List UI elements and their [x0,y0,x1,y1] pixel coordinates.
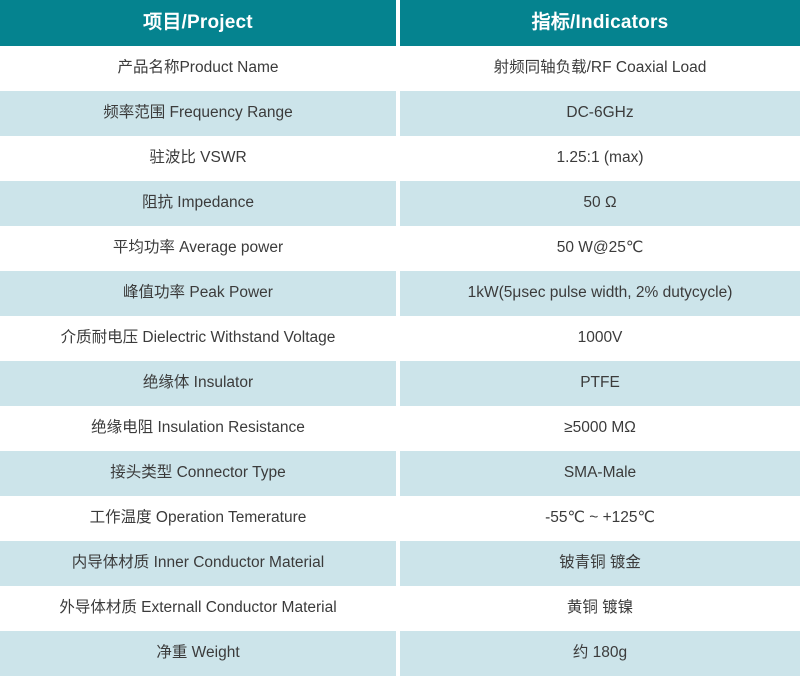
table-cell-indicator: ≥5000 MΩ [400,406,800,451]
table-cell-project: 绝缘电阻 Insulation Resistance [0,406,396,451]
table-row: 内导体材质 Inner Conductor Material铍青铜 镀金 [0,541,800,586]
table-cell-project: 绝缘体 Insulator [0,361,396,406]
table-cell-project: 频率范围 Frequency Range [0,91,396,136]
table-row: 介质耐电压 Dielectric Withstand Voltage1000V [0,316,800,361]
table-row: 峰值功率 Peak Power1kW(5μsec pulse width, 2%… [0,271,800,316]
table-cell-indicator: 黄铜 镀镍 [400,586,800,631]
table-cell-project: 峰值功率 Peak Power [0,271,396,316]
table-cell-project: 接头类型 Connector Type [0,451,396,496]
table-row: 外导体材质 Externall Conductor Material黄铜 镀镍 [0,586,800,631]
table-cell-project: 阻抗 Impedance [0,181,396,226]
table-cell-indicator: 1000V [400,316,800,361]
table-cell-indicator: SMA-Male [400,451,800,496]
table-body: 产品名称Product Name射频同轴负载/RF Coaxial Load频率… [0,46,800,676]
table-row: 接头类型 Connector TypeSMA-Male [0,451,800,496]
table-row: 绝缘电阻 Insulation Resistance≥5000 MΩ [0,406,800,451]
table-cell-project: 介质耐电压 Dielectric Withstand Voltage [0,316,396,361]
table-header-indicator: 指标/Indicators [400,0,800,46]
table-cell-indicator: DC-6GHz [400,91,800,136]
table-row: 净重 Weight约 180g [0,631,800,676]
table-cell-indicator: -55℃ ~ +125℃ [400,496,800,541]
table-row: 阻抗 Impedance50 Ω [0,181,800,226]
table-row: 驻波比 VSWR1.25:1 (max) [0,136,800,181]
table-cell-project: 平均功率 Average power [0,226,396,271]
specification-table: 项目/Project 指标/Indicators 产品名称Product Nam… [0,0,800,678]
table-cell-indicator: 铍青铜 镀金 [400,541,800,586]
table-cell-project: 内导体材质 Inner Conductor Material [0,541,396,586]
table-row: 工作温度 Operation Temerature-55℃ ~ +125℃ [0,496,800,541]
table-cell-indicator: 射频同轴负载/RF Coaxial Load [400,46,800,91]
table-cell-project: 驻波比 VSWR [0,136,396,181]
table-header-row: 项目/Project 指标/Indicators [0,0,800,46]
table-row: 绝缘体 InsulatorPTFE [0,361,800,406]
table-row: 平均功率 Average power50 W@25℃ [0,226,800,271]
table-cell-indicator: 约 180g [400,631,800,676]
table-cell-indicator: PTFE [400,361,800,406]
table-cell-indicator: 1.25:1 (max) [400,136,800,181]
table-header-project: 项目/Project [0,0,396,46]
table-row: 频率范围 Frequency RangeDC-6GHz [0,91,800,136]
table-cell-project: 产品名称Product Name [0,46,396,91]
table-cell-project: 工作温度 Operation Temerature [0,496,396,541]
table-cell-project: 外导体材质 Externall Conductor Material [0,586,396,631]
table-cell-indicator: 50 W@25℃ [400,226,800,271]
table-cell-indicator: 50 Ω [400,181,800,226]
table-cell-indicator: 1kW(5μsec pulse width, 2% dutycycle) [400,271,800,316]
table-row: 产品名称Product Name射频同轴负载/RF Coaxial Load [0,46,800,91]
table-cell-project: 净重 Weight [0,631,396,676]
